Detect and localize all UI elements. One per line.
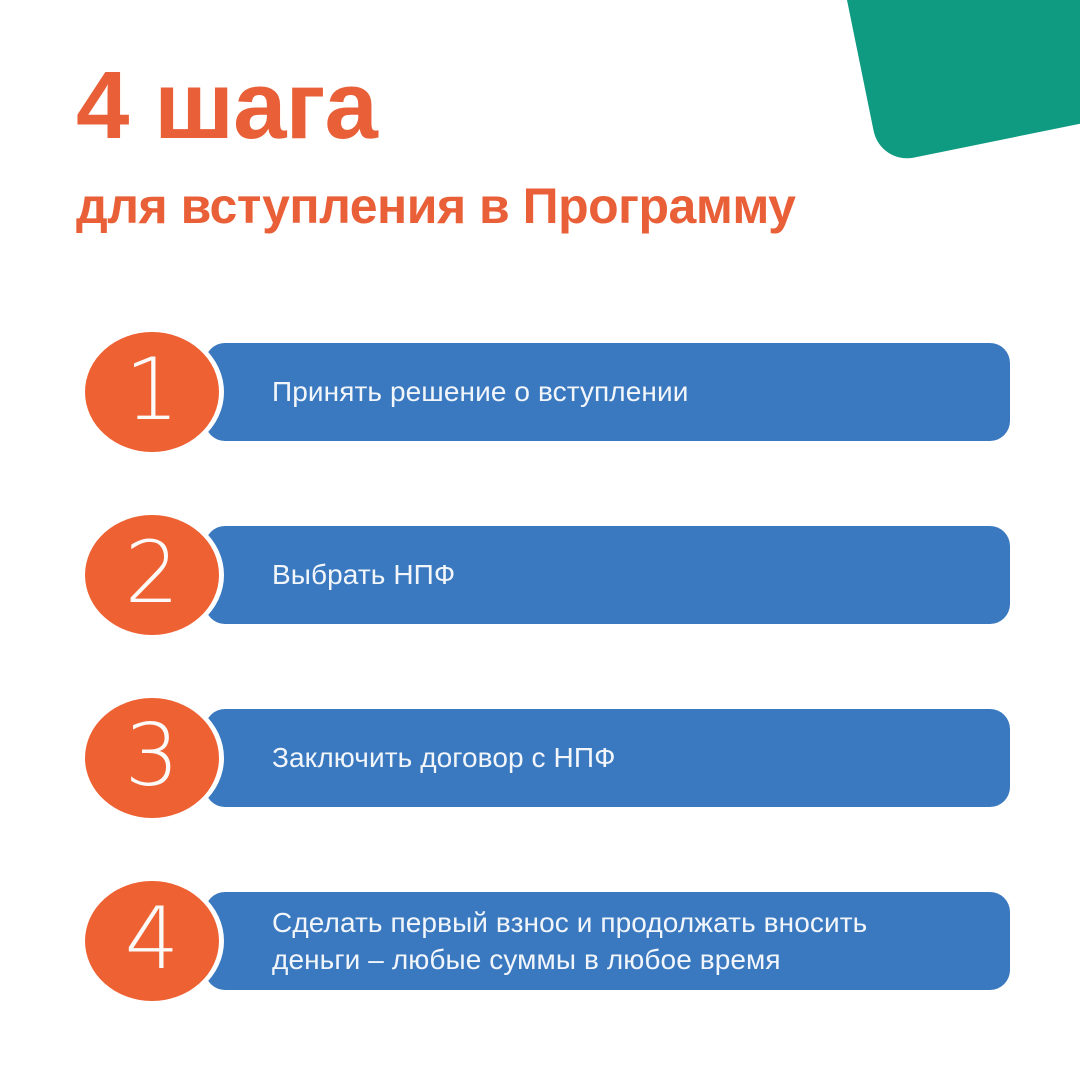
step-number: 2 [125,530,180,616]
step-bar-3: Заключить договор с НПФ [205,709,1010,807]
step-row: Заключить договор с НПФ3 [0,694,1080,822]
step-badge-1: 1 [85,332,219,452]
step-bar-2: Выбрать НПФ [205,526,1010,624]
step-badge-3: 3 [85,698,219,818]
step-number: 1 [125,347,180,433]
step-bar-1: Принять решение о вступлении [205,343,1010,441]
step-badge-4: 4 [85,881,219,1001]
step-number: 4 [125,896,180,982]
steps-list: Принять решение о вступлении1Выбрать НПФ… [0,0,1080,1080]
step-bar-4: Сделать первый взнос и продолжать вносит… [205,892,1010,990]
step-number: 3 [125,713,180,799]
infographic-canvas: 4 шага для вступления в Программу Принят… [0,0,1080,1080]
step-row: Сделать первый взнос и продолжать вносит… [0,877,1080,1005]
step-label: Принять решение о вступлении [205,373,718,410]
step-row: Принять решение о вступлении1 [0,328,1080,456]
step-label: Заключить договор с НПФ [205,739,645,776]
step-row: Выбрать НПФ2 [0,511,1080,639]
step-label: Сделать первый взнос и продолжать вносит… [205,904,897,978]
step-label: Выбрать НПФ [205,556,485,593]
step-badge-2: 2 [85,515,219,635]
